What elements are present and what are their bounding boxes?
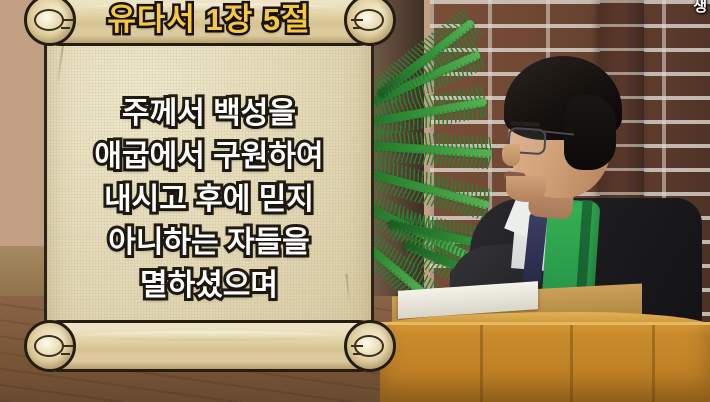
- scripture-scroll-overlay: 유다서 1장 5절 주께서 백성을 애굽에서 구원하여 내시고 후에 믿지 아니…: [28, 0, 390, 382]
- hair-side: [564, 94, 616, 170]
- corner-caption: 생: [693, 0, 708, 16]
- scroll-rod-bottom: [34, 320, 384, 372]
- wooden-pulpit: [380, 322, 710, 402]
- nose: [502, 144, 520, 166]
- broadcast-frame: 생 유다: [0, 0, 710, 402]
- scripture-verse-text: 주께서 백성을 애굽에서 구원하여 내시고 후에 믿지 아니하는 자들을 멸하셨…: [28, 92, 390, 307]
- scripture-reference-title: 유다서 1장 5절: [28, 0, 390, 42]
- scroll-curl-bottom-right: [344, 320, 396, 372]
- verse-line: 아니하는 자들을: [28, 221, 390, 264]
- verse-line: 내시고 후에 믿지: [28, 178, 390, 221]
- verse-line: 멸하셨으며: [28, 264, 390, 307]
- verse-line: 주께서 백성을: [28, 92, 390, 135]
- verse-line: 애굽에서 구원하여: [28, 135, 390, 178]
- chin: [506, 176, 546, 202]
- scroll-curl-bottom-left: [24, 320, 76, 372]
